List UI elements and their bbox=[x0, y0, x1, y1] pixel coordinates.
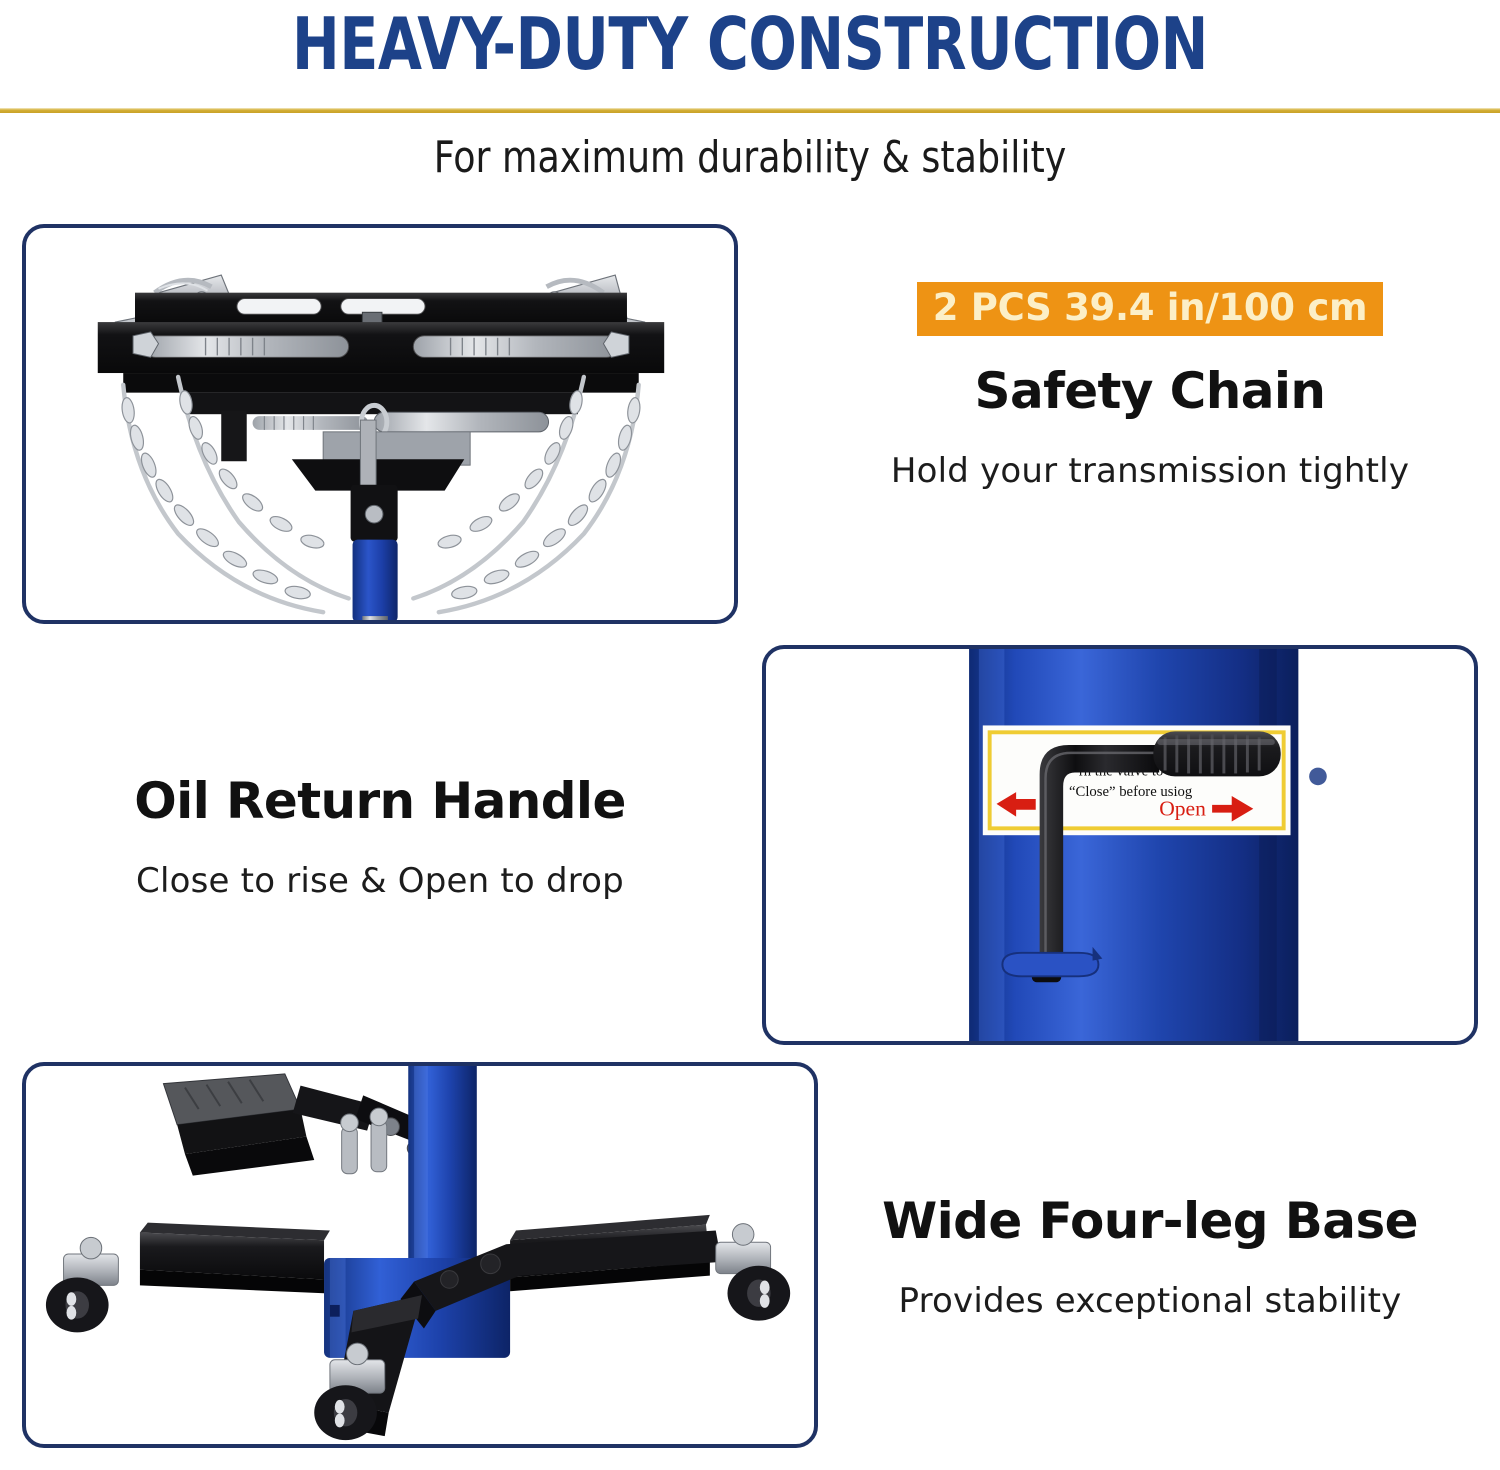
feature-heading: Wide Four-leg Base bbox=[820, 1190, 1480, 1252]
saddle-undercarriage bbox=[186, 393, 578, 495]
base-leg-rear-left bbox=[140, 1223, 330, 1294]
feature-safety-chain: 2 PCS 39.4 in/100 cm Safety Chain Hold y… bbox=[830, 282, 1470, 494]
caster-wheel-right bbox=[716, 1224, 790, 1321]
feature-subtext: Provides exceptional stability bbox=[820, 1278, 1480, 1324]
page-subtitle: For maximum durability & stability bbox=[60, 130, 1440, 186]
handle-grip bbox=[1153, 731, 1280, 776]
feature-subtext: Close to rise & Open to drop bbox=[30, 858, 730, 904]
caster-wheel-left bbox=[46, 1237, 118, 1332]
feature-oil-return-handle: Oil Return Handle Close to rise & Open t… bbox=[30, 770, 730, 904]
gold-divider bbox=[0, 108, 1500, 113]
feature-wide-four-leg-base: Wide Four-leg Base Provides exceptional … bbox=[820, 1190, 1480, 1324]
saddle-illustration bbox=[26, 228, 734, 620]
feature-heading: Oil Return Handle bbox=[30, 770, 730, 832]
four-leg-base-with-casters-photo bbox=[22, 1062, 818, 1448]
base-illustration bbox=[26, 1066, 814, 1444]
saddle-main-beam bbox=[98, 322, 664, 393]
feature-subtext: Hold your transmission tightly bbox=[830, 448, 1470, 494]
hydraulic-cylinder bbox=[969, 649, 1298, 1041]
status-badge: 2 PCS 39.4 in/100 cm bbox=[917, 282, 1383, 336]
center-column bbox=[351, 485, 398, 620]
saddle-with-safety-chains-photo bbox=[22, 224, 738, 624]
svg-text:Open: Open bbox=[1159, 797, 1206, 821]
page-title: HEAVY-DUTY CONSTRUCTION bbox=[90, 0, 1410, 90]
return-spring bbox=[338, 1108, 393, 1272]
oil-return-handle-valve-photo: rn the valve to the “Close” before usiog… bbox=[762, 645, 1478, 1045]
valve-illustration: rn the valve to the “Close” before usiog… bbox=[766, 649, 1474, 1041]
feature-heading: Safety Chain bbox=[830, 360, 1470, 422]
header: HEAVY-DUTY CONSTRUCTION For maximum dura… bbox=[0, 0, 1500, 200]
